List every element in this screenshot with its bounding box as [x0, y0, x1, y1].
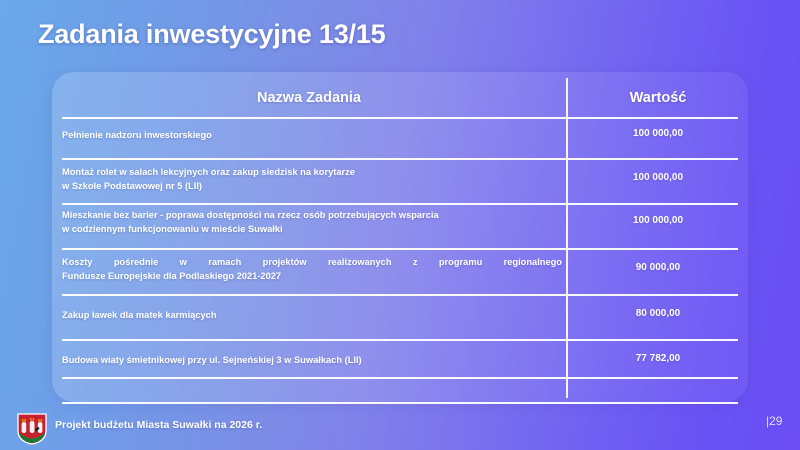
- table-row-value: 90 000,00: [568, 262, 748, 273]
- table-row-value: 77 782,00: [568, 353, 748, 364]
- investment-tasks-table: Nazwa Zadania Wartość Pełnienie nadzoru …: [52, 72, 748, 402]
- table-row-name: Pełnienie nadzoru inwestorskiego: [62, 128, 562, 142]
- table-row-name-line: w codziennym funkcjonowaniu w mieście Su…: [62, 222, 562, 236]
- table-row-value: 100 000,00: [568, 215, 748, 226]
- table-row-name: Montaż rolet w salach lekcyjnych oraz za…: [62, 165, 562, 193]
- table-row-name-line: Koszty pośrednie w ramach projektów real…: [62, 255, 562, 269]
- row-divider: [62, 158, 738, 160]
- row-divider: [62, 117, 738, 119]
- table-row-name-line: Montaż rolet w salach lekcyjnych oraz za…: [62, 165, 562, 179]
- table-row-name: Zakup ławek dla matek karmiących: [62, 308, 562, 322]
- table-row-name-line: w Szkole Podstawowej nr 5 (LII): [62, 179, 562, 193]
- page-title: Zadania inwestycyjne 13/15: [38, 19, 385, 50]
- table-row-name-line: Zakup ławek dla matek karmiących: [62, 308, 562, 322]
- column-header-name: Nazwa Zadania: [52, 90, 566, 106]
- row-divider: [62, 294, 738, 296]
- table-row-name-line: Mieszkanie bez barier - poprawa dostępno…: [62, 208, 562, 222]
- page-number: |29: [766, 414, 782, 428]
- table-row-name-line: Pełnienie nadzoru inwestorskiego: [62, 128, 562, 142]
- table-row-name-line: Budowa wiaty śmietnikowej przy ul. Sejne…: [62, 353, 562, 367]
- table-row-name-line: Fundusze Europejskie dla Podlaskiego 202…: [62, 269, 562, 283]
- footer-label: Projekt budżetu Miasta Suwałki na 2026 r…: [55, 419, 262, 431]
- suwalki-coat-of-arms-icon: [17, 413, 47, 445]
- table-row-name: Koszty pośrednie w ramach projektów real…: [62, 255, 562, 283]
- slide-canvas: Zadania inwestycyjne 13/15 Nazwa Zadania…: [0, 0, 800, 450]
- column-header-value: Wartość: [568, 90, 748, 106]
- table-row-value: 100 000,00: [568, 128, 748, 139]
- table-row-value: 100 000,00: [568, 172, 748, 183]
- row-divider: [62, 248, 738, 250]
- row-divider: [62, 377, 738, 379]
- table-row-name: Budowa wiaty śmietnikowej przy ul. Sejne…: [62, 353, 562, 367]
- table-row-name: Mieszkanie bez barier - poprawa dostępno…: [62, 208, 562, 236]
- column-divider: [566, 78, 568, 398]
- row-divider: [62, 203, 738, 205]
- row-divider: [62, 402, 738, 404]
- row-divider: [62, 339, 738, 341]
- table-row-value: 80 000,00: [568, 308, 748, 319]
